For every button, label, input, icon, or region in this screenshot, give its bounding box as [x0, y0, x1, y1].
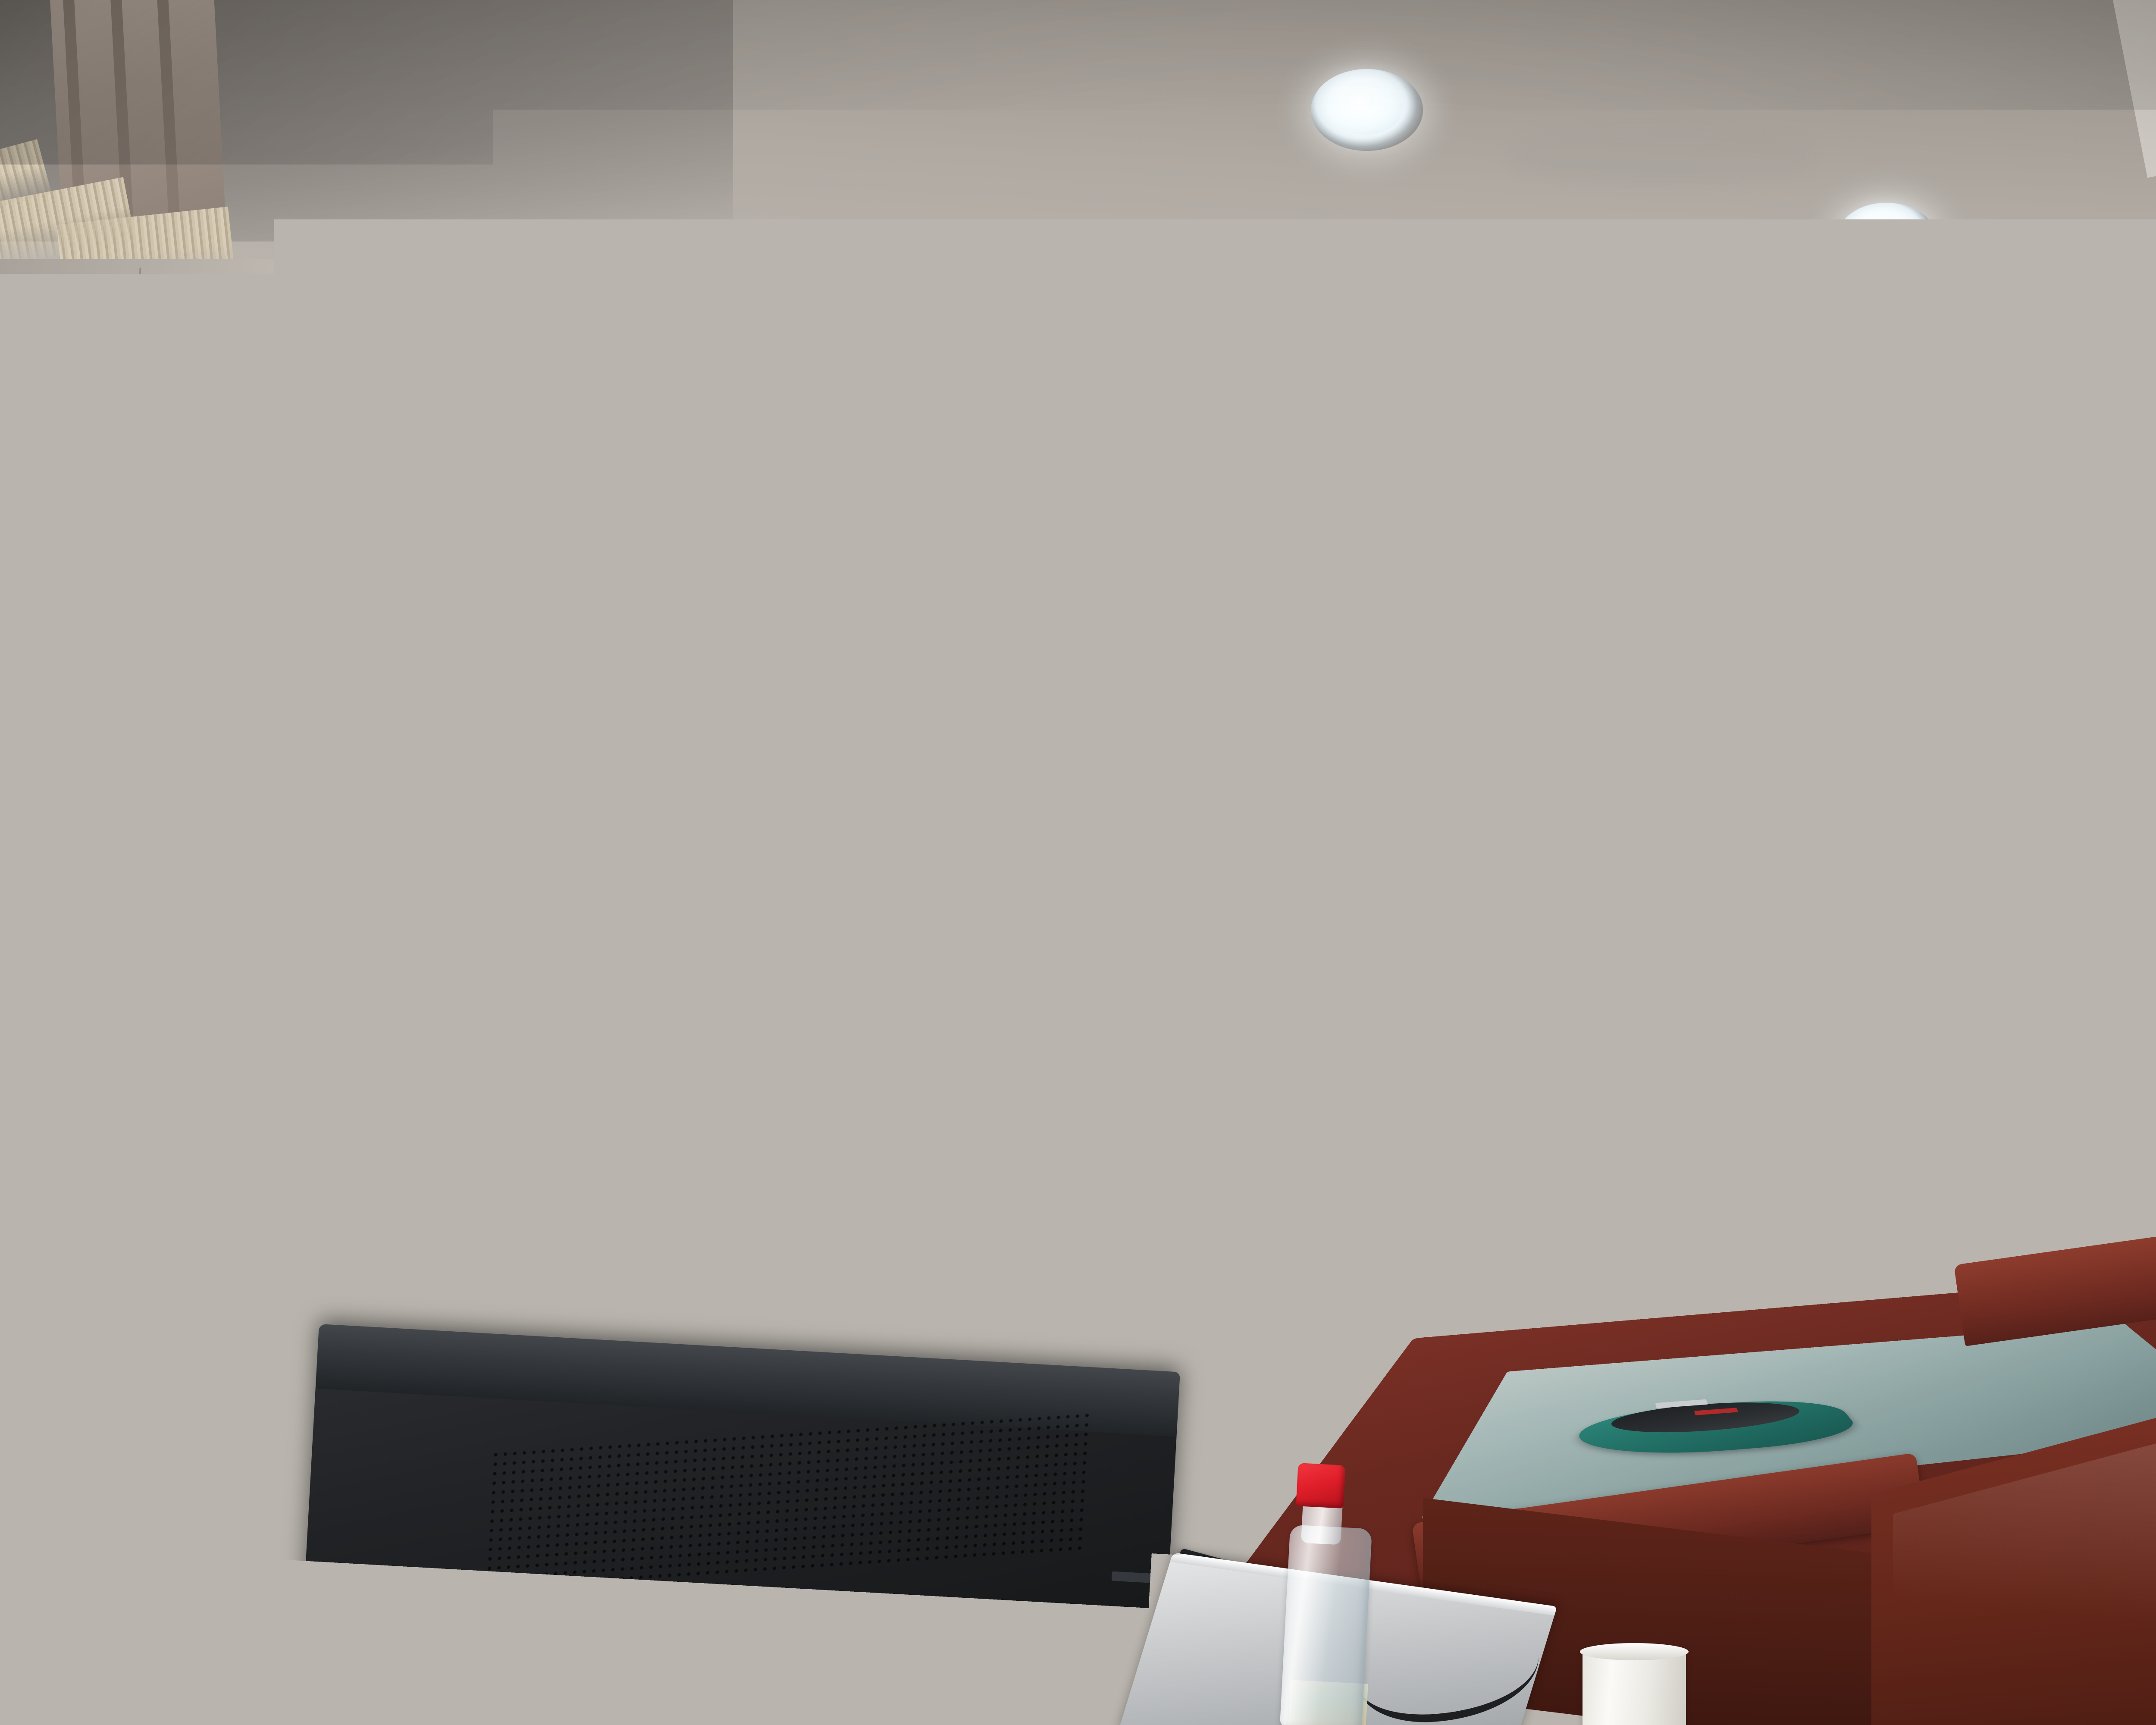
lecture-hall-photo: MATLAB Basics: Initializing Variables In…	[0, 0, 2156, 1725]
shirt-button	[949, 1160, 958, 1170]
wall-patch	[1509, 129, 1811, 185]
slide-blue-wash	[1940, 724, 2133, 972]
ceiling-light-1	[1311, 69, 1423, 151]
screen-hook-icon	[1509, 267, 1515, 323]
home-button-circle: HOME	[1548, 960, 1593, 1004]
chalk-smear	[539, 448, 890, 506]
slide-home-button[interactable]: HOME	[1543, 954, 1598, 1009]
monitor-power-button[interactable]	[1113, 1690, 1144, 1701]
wall-patch	[26, 733, 164, 1035]
monitor-vent-grille	[486, 1413, 1092, 1595]
monitor-button[interactable]	[1107, 1649, 1147, 1660]
monitor-button[interactable]	[1112, 1571, 1151, 1583]
monitor-brand-logo: Lenovo	[714, 1613, 865, 1683]
light-bulb-glow	[1853, 214, 1918, 260]
eye	[930, 717, 947, 731]
monitor-stand-neck	[621, 1687, 713, 1725]
home-button-label: HOME	[1547, 972, 1594, 991]
bullet-marker-level1	[1581, 661, 1596, 677]
monitor-button[interactable]	[1109, 1610, 1149, 1621]
hair-sideburn	[733, 655, 798, 768]
banner-stripe	[157, 0, 180, 232]
glasses-bridge	[907, 712, 919, 716]
projected-slide: MATLAB Basics: Initializing Variables In…	[1515, 336, 2155, 1069]
shirt-button	[951, 1268, 961, 1277]
chalk-smear	[1137, 481, 1364, 527]
shirt-button	[943, 944, 953, 954]
bullet-text-level1: Initialization using keyboard input	[1604, 650, 2076, 715]
bullet-text-level2: input()	[1635, 723, 1712, 758]
chalkboard-eraser[interactable]	[1410, 978, 1479, 1023]
water-bottle[interactable]	[1280, 1524, 1372, 1725]
fringed-ceiling-banner	[50, 0, 226, 237]
light-bulb-glow	[1329, 82, 1403, 135]
projection-screen[interactable]: MATLAB Basics: Initializing Variables In…	[1506, 327, 2156, 1079]
paper-cup[interactable]	[1583, 1647, 1686, 1725]
slide-divider	[1585, 566, 2099, 598]
lenovo-monitor[interactable]: Lenovo	[295, 1324, 1180, 1725]
cup-rim	[1580, 1643, 1689, 1660]
shirt-button	[946, 1052, 956, 1062]
slide-title: MATLAB Basics: Initializing Variables	[1591, 370, 2076, 508]
bottle-cap[interactable]	[1296, 1463, 1345, 1509]
bullet-marker-level2	[1614, 736, 1625, 748]
